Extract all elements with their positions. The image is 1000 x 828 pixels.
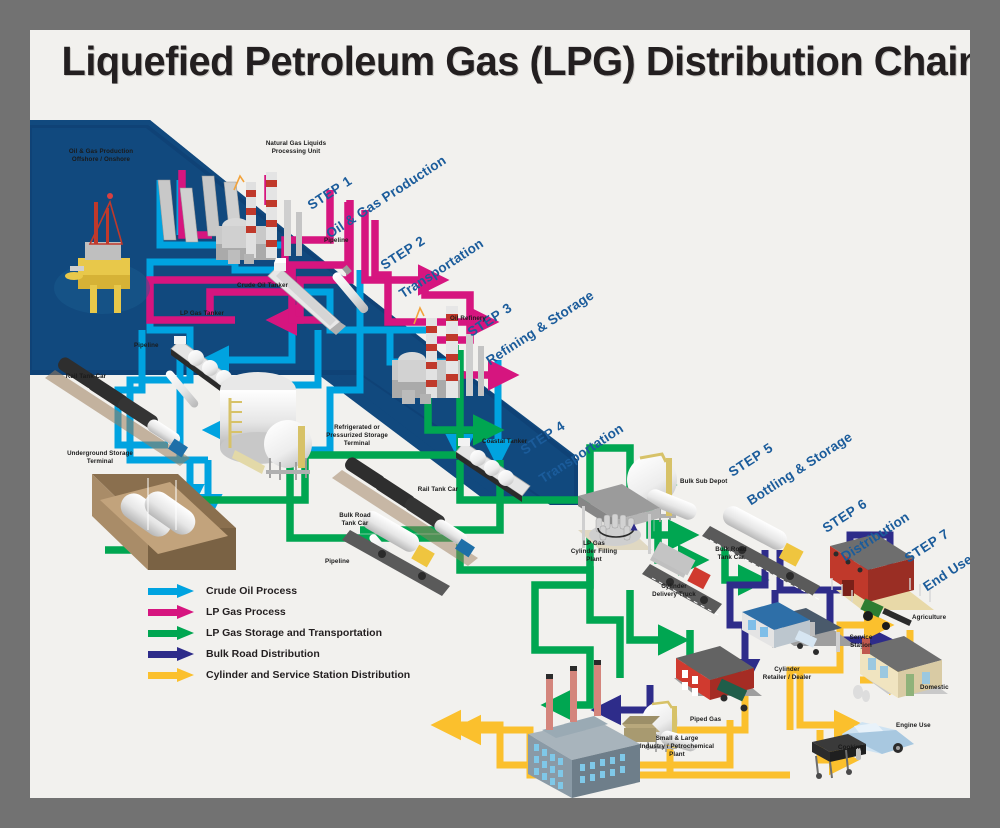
legend-row-cylinder-service: Cylinder and Service Station Distributio… (148, 664, 410, 685)
legend-label-lp-gas: LP Gas Process (206, 606, 286, 618)
legend-row-crude-oil: Crude Oil Process (148, 580, 410, 601)
legend-row-bulk-road: Bulk Road Distribution (148, 643, 410, 664)
legend-label-bulk-road: Bulk Road Distribution (206, 648, 320, 660)
legend-arrow-icon-bulk-road (148, 647, 194, 661)
domestic-illustration (853, 636, 948, 702)
legend-row-lp-storage: LP Gas Storage and Transportation (148, 622, 410, 643)
legend-label-crude-oil: Crude Oil Process (206, 585, 297, 597)
legend-arrow-icon-cylinder-service (148, 668, 194, 682)
underground-storage-illustration (92, 474, 236, 570)
service-station-illustration (742, 602, 856, 655)
legend-arrow-icon-lp-storage (148, 626, 194, 640)
legend-label-lp-storage: LP Gas Storage and Transportation (206, 627, 382, 639)
legend-label-cylinder-service: Cylinder and Service Station Distributio… (206, 669, 410, 681)
industry-plant-illustration (528, 660, 640, 798)
legend-row-lp-gas: LP Gas Process (148, 601, 410, 622)
cylinder-retailer-illustration (674, 646, 762, 712)
legend-arrow-icon-lp-gas (148, 605, 194, 619)
legend-arrow-icon-crude-oil (148, 584, 194, 598)
cylinder-delivery-truck-illustration (642, 542, 722, 616)
infographic-poster: Liquefied Petroleum Gas (LPG) Distributi… (30, 30, 970, 798)
legend: Crude Oil Process LP Gas Process LP Gas … (148, 580, 410, 685)
